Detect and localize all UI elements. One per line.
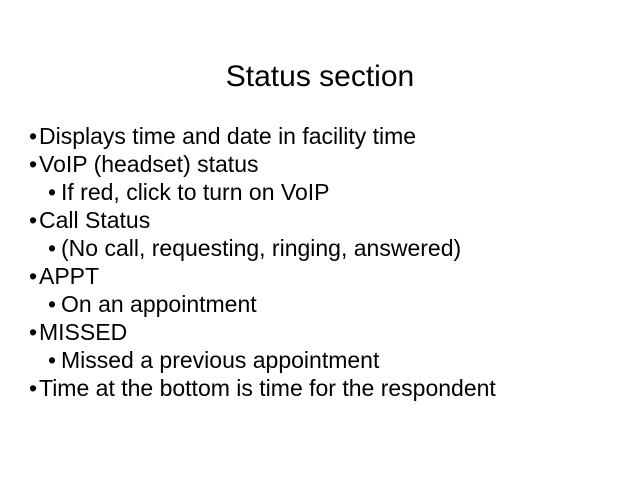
bullet-item: •Call Status: [24, 206, 624, 234]
bullet-point-icon: •: [29, 122, 39, 150]
bullet-point-icon: •: [48, 290, 61, 318]
bullet-item: •On an appointment: [24, 290, 624, 318]
bullet-item: •VoIP (headset) status: [24, 150, 624, 178]
bullet-item-label: (No call, requesting, ringing, answered): [61, 235, 461, 261]
bullet-item-label: Displays time and date in facility time: [39, 123, 416, 149]
bullet-item-label: VoIP (headset) status: [39, 151, 259, 177]
bullet-item-label: Time at the bottom is time for the respo…: [39, 375, 496, 401]
bullet-point-icon: •: [29, 318, 39, 346]
bullet-point-icon: •: [48, 234, 61, 262]
bullet-point-icon: •: [48, 178, 61, 206]
bullet-item: •(No call, requesting, ringing, answered…: [24, 234, 624, 262]
bullet-item: •Missed a previous appointment: [24, 346, 624, 374]
bullet-item: •Displays time and date in facility time: [24, 122, 624, 150]
bullet-item: •If red, click to turn on VoIP: [24, 178, 624, 206]
bullet-point-icon: •: [29, 262, 39, 290]
slide-body-content: •Displays time and date in facility time…: [24, 122, 624, 402]
slide-canvas: Status section •Displays time and date i…: [0, 0, 640, 480]
bullet-item-label: Call Status: [39, 207, 150, 233]
bullet-item-label: APPT: [39, 263, 99, 289]
bullet-point-icon: •: [48, 346, 61, 374]
bullet-point-icon: •: [29, 150, 39, 178]
bullet-point-icon: •: [29, 206, 39, 234]
bullet-item: •MISSED: [24, 318, 624, 346]
bullet-item-label: Missed a previous appointment: [61, 347, 379, 373]
bullet-item-label: On an appointment: [61, 291, 257, 317]
bullet-point-icon: •: [29, 374, 39, 402]
bullet-item-label: MISSED: [39, 319, 127, 345]
bullet-item: •APPT: [24, 262, 624, 290]
bullet-item-label: If red, click to turn on VoIP: [61, 179, 329, 205]
page-title: Status section: [0, 60, 640, 94]
bullet-item: •Time at the bottom is time for the resp…: [24, 374, 624, 402]
